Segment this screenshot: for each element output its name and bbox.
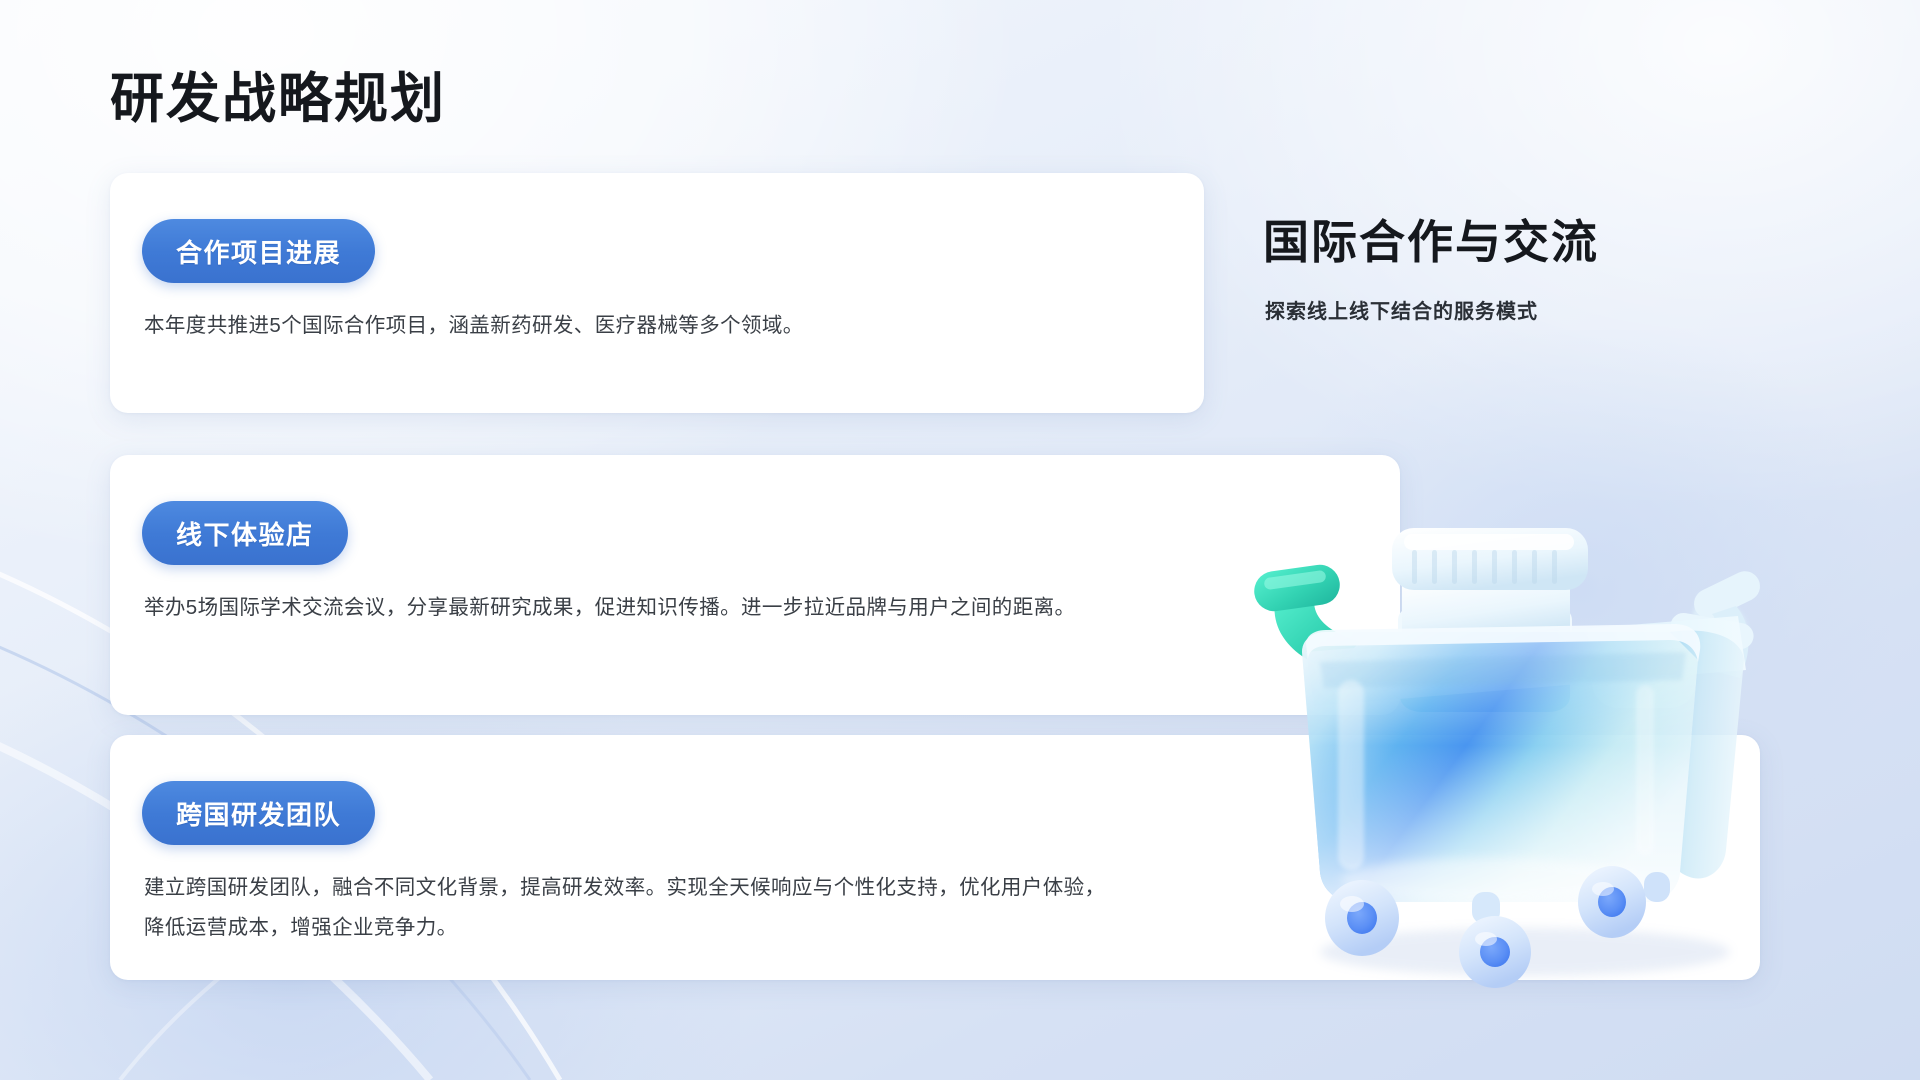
slide-canvas: 研发战略规划 合作项目进展 本年度共推进5个国际合作项目，涵盖新药研发、医疗器械… (0, 0, 1920, 1080)
right-panel-heading: 国际合作与交流 (1263, 206, 1599, 272)
card-badge[interactable]: 线下体验店 (142, 501, 348, 565)
right-panel-subtitle: 探索线上线下结合的服务模式 (1265, 295, 1538, 324)
card-badge[interactable]: 跨国研发团队 (142, 781, 375, 845)
card-badge-label: 合作项目进展 (176, 233, 341, 270)
content-card: 跨国研发团队 建立跨国研发团队，融合不同文化背景，提高研发效率。实现全天候响应与… (110, 735, 1760, 980)
content-card: 合作项目进展 本年度共推进5个国际合作项目，涵盖新药研发、医疗器械等多个领域。 (110, 173, 1204, 413)
content-card: 线下体验店 举办5场国际学术交流会议，分享最新研究成果，促进知识传播。进一步拉近… (110, 455, 1400, 715)
card-body-text: 建立跨国研发团队，融合不同文化背景，提高研发效率。实现全天候响应与个性化支持，优… (144, 868, 1120, 948)
card-body-text: 本年度共推进5个国际合作项目，涵盖新药研发、医疗器械等多个领域。 (144, 306, 1164, 346)
page-title: 研发战略规划 (110, 68, 446, 130)
card-badge[interactable]: 合作项目进展 (142, 219, 375, 283)
card-badge-label: 跨国研发团队 (176, 795, 341, 832)
card-body-text: 举办5场国际学术交流会议，分享最新研究成果，促进知识传播。进一步拉近品牌与用户之… (144, 588, 1340, 628)
card-badge-label: 线下体验店 (176, 515, 314, 552)
